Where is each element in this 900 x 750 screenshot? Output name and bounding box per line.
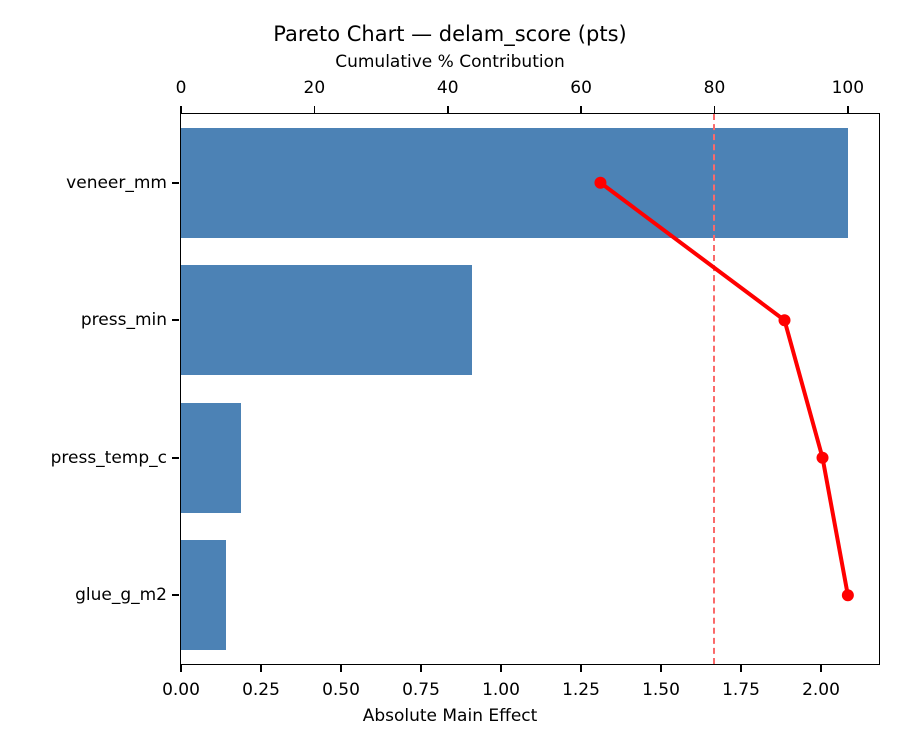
category-label-veneer_mm: veneer_mm — [66, 173, 167, 193]
top-tick-mark — [447, 106, 449, 113]
top-tick-label: 60 — [570, 78, 592, 98]
pareto-chart-figure: Pareto Chart — delam_score (pts) Cumulat… — [0, 0, 900, 750]
top-axis-label: Cumulative % Contribution — [0, 52, 900, 72]
bottom-tick-label: 1.00 — [482, 680, 520, 700]
top-tick-mark — [314, 106, 316, 113]
category-tick-mark — [172, 457, 179, 459]
bottom-tick-mark — [740, 665, 742, 672]
top-tick-label: 20 — [304, 78, 326, 98]
bottom-axis-label: Absolute Main Effect — [0, 706, 900, 726]
top-tick-label: 40 — [437, 78, 459, 98]
bottom-tick-mark — [580, 665, 582, 672]
category-label-press_min: press_min — [81, 310, 167, 330]
cumulative-marker-glue_g_m2 — [842, 589, 854, 601]
bottom-tick-mark — [340, 665, 342, 672]
category-tick-mark — [172, 182, 179, 184]
bottom-tick-mark — [180, 665, 182, 672]
category-tick-mark — [172, 594, 179, 596]
bottom-tick-mark — [260, 665, 262, 672]
bottom-tick-mark — [820, 665, 822, 672]
category-tick-mark — [172, 319, 179, 321]
top-tick-mark — [714, 106, 716, 113]
page-title: Pareto Chart — delam_score (pts) — [0, 22, 900, 46]
bottom-tick-label: 1.25 — [562, 680, 600, 700]
cumulative-marker-press_temp_c — [817, 452, 829, 464]
cumulative-line-path — [600, 183, 847, 596]
top-tick-mark — [847, 106, 849, 113]
category-label-glue_g_m2: glue_g_m2 — [75, 585, 167, 605]
cumulative-marker-veneer_mm — [594, 177, 606, 189]
top-tick-label: 80 — [704, 78, 726, 98]
plot-area: 020406080100 0.000.250.500.751.001.251.5… — [180, 113, 880, 665]
bottom-tick-mark — [420, 665, 422, 672]
bottom-tick-label: 0.00 — [162, 680, 200, 700]
bottom-tick-mark — [500, 665, 502, 672]
cumulative-line-series — [181, 114, 879, 664]
bottom-tick-label: 2.00 — [802, 680, 840, 700]
bottom-tick-label: 0.75 — [402, 680, 440, 700]
plot-inner: 020406080100 0.000.250.500.751.001.251.5… — [181, 114, 879, 664]
top-tick-mark — [580, 106, 582, 113]
bottom-tick-label: 0.50 — [322, 680, 360, 700]
category-label-press_temp_c: press_temp_c — [51, 448, 167, 468]
bottom-tick-label: 1.50 — [642, 680, 680, 700]
cumulative-marker-press_min — [779, 314, 791, 326]
top-tick-label: 100 — [832, 78, 864, 98]
bottom-tick-label: 0.25 — [242, 680, 280, 700]
bottom-tick-label: 1.75 — [722, 680, 760, 700]
top-tick-mark — [180, 106, 182, 113]
top-tick-label: 0 — [176, 78, 187, 98]
bottom-tick-mark — [660, 665, 662, 672]
